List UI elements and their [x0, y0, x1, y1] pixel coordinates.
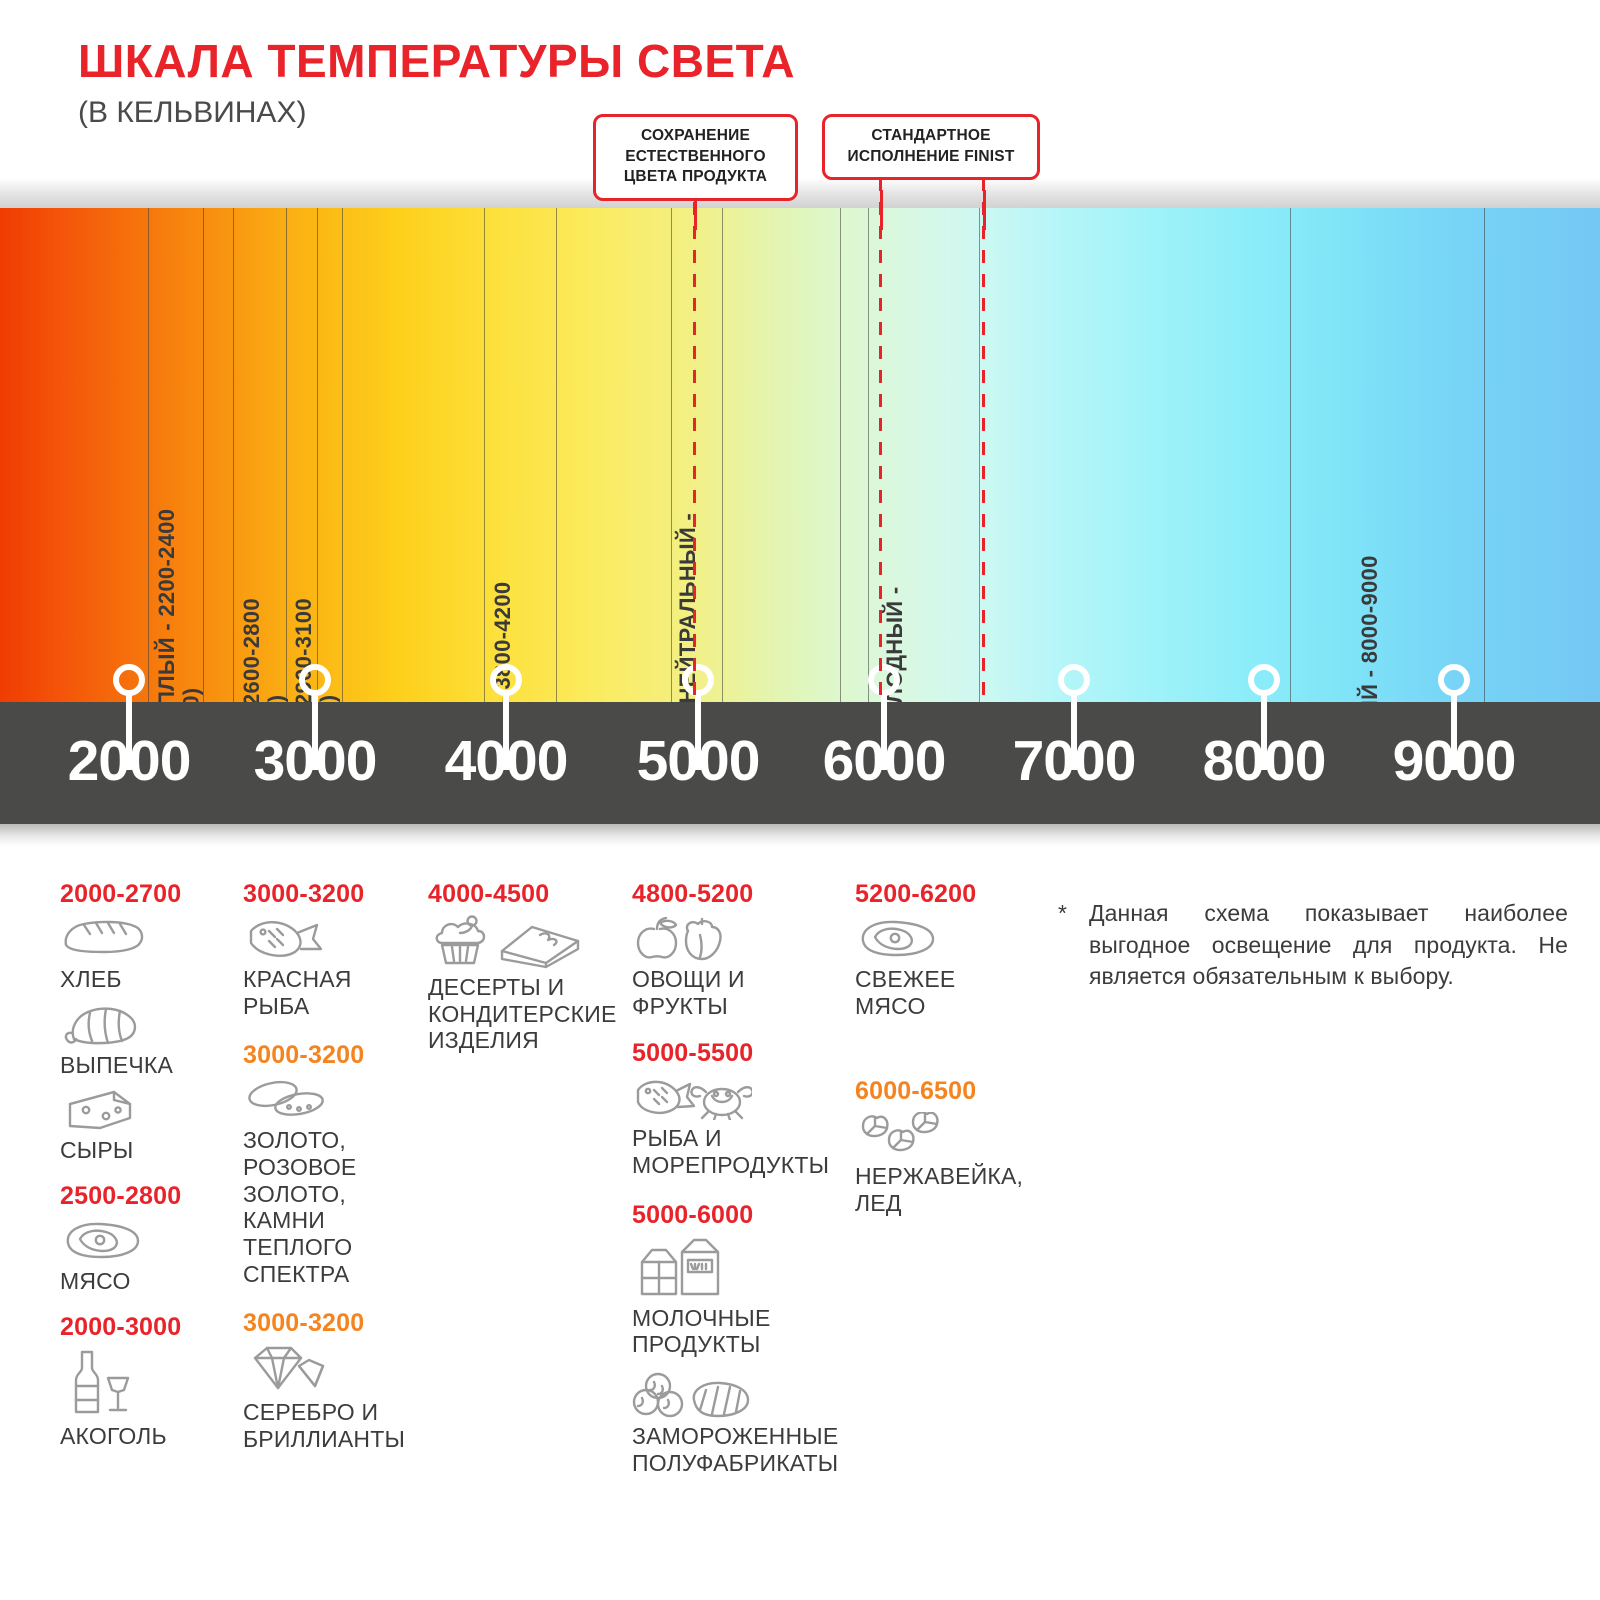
legend-item: РЫБА И МОРЕПРОДУКТЫ [632, 1074, 852, 1178]
legend-item-label: СЕРЕБРО И БРИЛЛИАНТЫ [243, 1399, 433, 1452]
legend-group: 3000-3200 КРАСНАЯ РЫБА [243, 880, 433, 1019]
legend-group-range: 4800-5200 [632, 880, 852, 909]
dashed-marker-6500 [982, 178, 985, 702]
legend-item: ДЕСЕРТЫ И КОНДИТЕРСКИЕ ИЗДЕЛИЯ [428, 915, 628, 1054]
band-divider [840, 208, 841, 702]
legend-item-label: ЗОЛОТО, РОЗОВОЕ ЗОЛОТО, КАМНИ ТЕПЛОГО СП… [243, 1127, 433, 1287]
diamond-icon [243, 1344, 433, 1396]
legend-group-range: 5200-6200 [855, 880, 1055, 909]
croissant-icon [60, 1001, 235, 1049]
legend-group: 2000-2700 ХЛЕБ [60, 880, 235, 1164]
legend-group: 2000-3000 АКОГОЛЬ [60, 1313, 235, 1450]
infographic-root: ШКАЛА ТЕМПЕРАТУРЫ СВЕТА (В КЕЛЬВИНАХ) СО… [0, 0, 1600, 1600]
legend-item-label: НЕРЖАВЕЙКА, ЛЕД [855, 1163, 1055, 1216]
legend-group: 6000-6500 НЕРЖАВЕЙКА, ЛЕД [855, 1077, 1055, 1216]
bread-icon [60, 915, 235, 963]
scale-number-bar: 2000 3000 4000 5000 6000 7000 8000 9000 [0, 702, 1600, 824]
tick-pin-ring [682, 664, 714, 696]
legend-column-1: 2000-2700 ХЛЕБ [60, 880, 235, 1457]
legend-item: АКОГОЛЬ [60, 1348, 235, 1450]
tick-pin-stem [1071, 692, 1077, 770]
band-divider [671, 208, 672, 702]
band-divider [148, 208, 149, 702]
tick-pin-ring [1248, 664, 1280, 696]
apple-pepper-icon [632, 915, 852, 963]
legend-item: ВЫПЕЧКА [60, 1001, 235, 1079]
legend-item-label: КРАСНАЯ РЫБА [243, 966, 433, 1019]
steak-icon [60, 1217, 235, 1265]
callout-standard-finist: СТАНДАРТНОЕ ИСПОЛНЕНИЕ FINIST [822, 114, 1040, 180]
footnote-text: Данная схема показывает наиболее выгодно… [1089, 898, 1568, 993]
legend-group: 4000-4500 ДЕСЕРТЫ И КОНДИТЕР [428, 880, 628, 1054]
fresh-meat-icon [855, 915, 1055, 963]
bottle-glass-icon [60, 1348, 235, 1420]
legend-group-range: 3000-3200 [243, 1309, 433, 1338]
dashed-marker-4900 [693, 178, 696, 702]
footnote: * Данная схема показывает наиболее выгод… [1058, 898, 1568, 993]
cheese-icon [60, 1086, 235, 1134]
tick-pin-stem [881, 692, 887, 770]
ice-cubes-icon [855, 1112, 1055, 1160]
legend-group-range: 6000-6500 [855, 1077, 1055, 1106]
legend-item: МОЛОЧНЫЕ ПРОДУКТЫ [632, 1236, 852, 1358]
tick-pin-stem [126, 692, 132, 770]
legend-item-label: МЯСО [60, 1268, 235, 1295]
tick-pin-ring [490, 664, 522, 696]
tick-pin-stem [1451, 692, 1457, 770]
band-divider [868, 208, 869, 702]
fish-icon [243, 915, 433, 963]
footnote-star: * [1058, 898, 1067, 993]
tick-pin-stem [1261, 692, 1267, 770]
legend-group: 5000-5500 [632, 1039, 852, 1178]
band-divider [1484, 208, 1485, 702]
legend-item: ЗОЛОТО, РОЗОВОЕ ЗОЛОТО, КАМНИ ТЕПЛОГО СП… [243, 1076, 433, 1287]
legend-group: 5200-6200 СВЕЖЕЕ МЯСО [855, 880, 1055, 1019]
legend-group-range: 2000-3000 [60, 1313, 235, 1342]
legend-item-label: СЫРЫ [60, 1137, 235, 1164]
legend-item-label: РЫБА И МОРЕПРОДУКТЫ [632, 1125, 852, 1178]
cupcake-cake-icon [428, 915, 628, 971]
legend-item-label: ХЛЕБ [60, 966, 235, 993]
legend-item: НЕРЖАВЕЙКА, ЛЕД [855, 1112, 1055, 1216]
legend-item-label: СВЕЖЕЕ МЯСО [855, 966, 1055, 1019]
tick-pin-stem [503, 692, 509, 770]
callout-natural-color: СОХРАНЕНИЕ ЕСТЕСТВЕННОГО ЦВЕТА ПРОДУКТА [593, 114, 798, 201]
legend-column-3: 4000-4500 ДЕСЕРТЫ И КОНДИТЕР [428, 880, 628, 1062]
band-divider [556, 208, 557, 702]
legend-item-label: ЗАМОРОЖЕННЫЕ ПОЛУФАБРИКАТЫ [632, 1423, 852, 1476]
legend-item-label: ОВОЩИ И ФРУКТЫ [632, 966, 852, 1019]
legend-group: 4800-5200 ОВОЩИ И ФРУКТЫ [632, 880, 852, 1019]
tick-pin-ring [1058, 664, 1090, 696]
band-divider [342, 208, 343, 702]
legend-group-range: 5000-6000 [632, 1201, 852, 1230]
legend-item: СЕРЕБРО И БРИЛЛИАНТЫ [243, 1344, 433, 1452]
legend-group-range: 2500-2800 [60, 1182, 235, 1211]
legend-column-4: 4800-5200 ОВОЩИ И ФРУКТЫ 5000-5500 [632, 880, 852, 1484]
legend-item: ЗАМОРОЖЕННЫЕ ПОЛУФАБРИКАТЫ [632, 1372, 852, 1476]
milk-carton-icon [632, 1236, 852, 1302]
tick-pin-stem [695, 692, 701, 770]
band-divider [233, 208, 234, 702]
legend-item-label: ВЫПЕЧКА [60, 1052, 235, 1079]
legend-item: СЫРЫ [60, 1086, 235, 1164]
band-divider [1290, 208, 1291, 702]
legend-group-range: 3000-3200 [243, 1041, 433, 1070]
legend-group: 3000-3200 СЕРЕБРО И БРИЛЛИАНТЫ [243, 1309, 433, 1452]
tick-pin-ring [299, 664, 331, 696]
legend-group: 2500-2800 МЯСО [60, 1182, 235, 1295]
color-gradient-bar: СУПЕР ТЕПЛЫЙ - 2200-2400 (тип К 2400) ТЕ… [0, 208, 1600, 702]
legend-item: ОВОЩИ И ФРУКТЫ [632, 915, 852, 1019]
legend-group: 5000-6000 МОЛОЧНЫЕ ПРОДУКТЫ [632, 1201, 852, 1477]
rings-icon [243, 1076, 433, 1124]
legend-item-label: МОЛОЧНЫЕ ПРОДУКТЫ [632, 1305, 852, 1358]
tick-pin-stem [312, 692, 318, 770]
band-divider [979, 208, 980, 702]
strip-top-shadow [0, 178, 1600, 208]
legend-item: КРАСНАЯ РЫБА [243, 915, 433, 1019]
legend-group: 3000-3200 ЗОЛОТО, РОЗОВОЕ ЗОЛОТО, КАМНИ … [243, 1041, 433, 1287]
legend-group-range: 5000-5500 [632, 1039, 852, 1068]
legend-column-2: 3000-3200 КРАСНАЯ РЫБА 3000-3200 [243, 880, 433, 1461]
tick-pin-ring [1438, 664, 1470, 696]
dashed-marker-6000 [879, 178, 882, 702]
band-divider [484, 208, 485, 702]
callout-standard-finist-connector-a [880, 190, 883, 230]
page-title: ШКАЛА ТЕМПЕРАТУРЫ СВЕТА [78, 38, 795, 84]
legend-group-range: 2000-2700 [60, 880, 235, 909]
fish-crab-icon [632, 1074, 852, 1122]
legend-item: ХЛЕБ [60, 915, 235, 993]
legend-column-5: 5200-6200 СВЕЖЕЕ МЯСО 6000-6500 [855, 880, 1055, 1225]
strip-bottom-shadow [0, 824, 1600, 846]
legend-item-label: АКОГОЛЬ [60, 1423, 235, 1450]
legend-item: МЯСО [60, 1217, 235, 1295]
frozen-food-icon [632, 1372, 852, 1420]
legend-group-range: 4000-4500 [428, 880, 628, 909]
callout-standard-finist-connector-b [983, 190, 986, 230]
legend-item: СВЕЖЕЕ МЯСО [855, 915, 1055, 1019]
legend-group-range: 3000-3200 [243, 880, 433, 909]
legend-item-label: ДЕСЕРТЫ И КОНДИТЕРСКИЕ ИЗДЕЛИЯ [428, 974, 628, 1054]
tick-pin-ring [868, 664, 900, 696]
tick-pin-ring [113, 664, 145, 696]
